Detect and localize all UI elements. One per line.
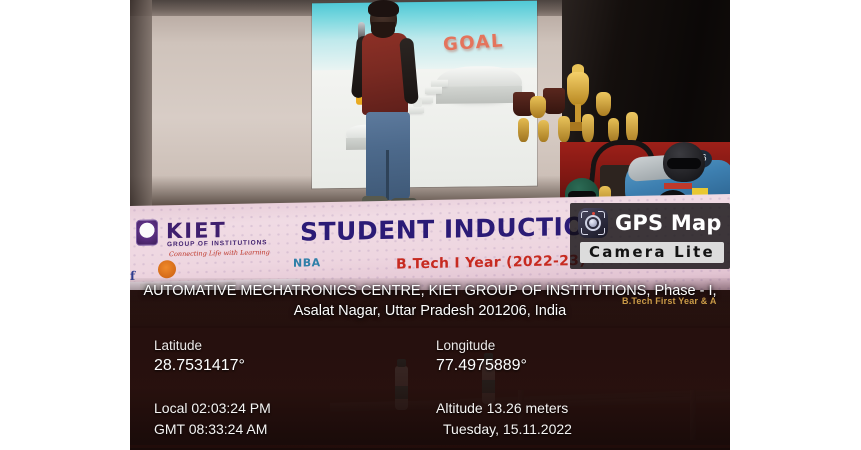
speaker-leg-split	[386, 150, 389, 200]
watermark-title-row: GPS Map	[578, 208, 722, 238]
slide-goal-text: GOAL	[442, 31, 504, 56]
screenshot-root: GOAL	[0, 0, 861, 450]
date-value: Tuesday, 15.11.2022	[436, 419, 572, 440]
speaker-beard	[371, 22, 395, 38]
geotagged-photo: GOAL	[130, 0, 730, 450]
latitude-value: 28.7531417°	[154, 355, 245, 377]
kiet-crest-icon	[136, 219, 158, 245]
icon-lens	[589, 219, 597, 227]
helmet-visor	[667, 158, 701, 169]
local-time: Local 02:03:24 PM	[154, 398, 271, 419]
small-trophy	[538, 120, 549, 142]
longitude-label: Longitude	[436, 336, 527, 355]
gmt-time: GMT 08:33:24 AM	[154, 419, 271, 440]
latitude-block: Latitude 28.7531417°	[154, 336, 245, 377]
gps-map-camera-watermark: GPS Map Camera Lite	[570, 203, 730, 269]
slide-stair	[431, 79, 448, 86]
icon-corner	[598, 228, 605, 235]
watermark-subtitle: Camera Lite	[580, 242, 724, 263]
small-trophy	[626, 112, 638, 142]
small-trophy	[608, 118, 619, 142]
gps-camera-icon	[578, 208, 608, 238]
left-curtain	[130, 0, 152, 214]
small-trophy	[558, 116, 570, 142]
banner-title: STUDENT INDUCTION	[300, 211, 607, 246]
icon-record-dot	[592, 212, 595, 215]
latitude-label: Latitude	[154, 336, 245, 355]
slide-stair	[425, 87, 442, 94]
dark-trophy	[543, 88, 565, 114]
altitude-value: Altitude 13.26 meters	[436, 398, 572, 419]
time-block: Local 02:03:24 PM GMT 08:33:24 AM	[154, 398, 271, 440]
large-trophy-stem	[575, 104, 581, 124]
large-trophy-cup	[567, 72, 589, 106]
kart-sticker	[664, 183, 692, 189]
projector-screen: GOAL	[312, 1, 537, 189]
speaker-hair	[368, 0, 399, 17]
watermark-title: GPS Map	[615, 211, 722, 235]
stage-caption-text: B.Tech First Year & A	[622, 296, 717, 306]
black-helmet	[663, 142, 705, 182]
altitude-date-block: Altitude 13.26 meters Tuesday, 15.11.202…	[436, 398, 572, 440]
longitude-block: Longitude 77.4975889°	[436, 336, 527, 377]
gps-info-panel: Latitude 28.7531417° Longitude 77.497588…	[130, 336, 730, 448]
nba-logo-text: NBA	[293, 256, 321, 270]
small-trophy	[582, 114, 594, 142]
medium-trophy	[530, 96, 546, 118]
small-trophy	[518, 118, 529, 142]
slide-goal-pillar	[436, 86, 522, 104]
medium-trophy	[596, 92, 611, 116]
longitude-value: 77.4975889°	[436, 355, 527, 377]
